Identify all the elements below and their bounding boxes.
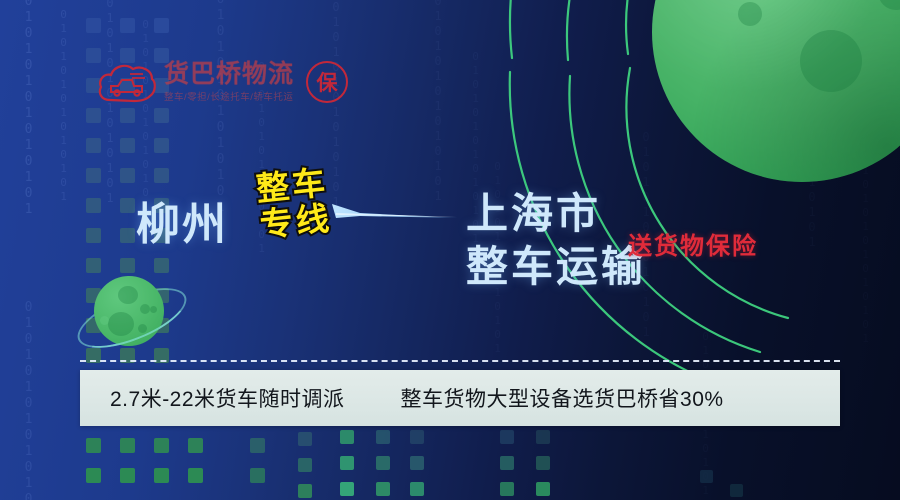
- bottom-dashed-divider: [80, 360, 840, 362]
- route-arrow-beam: [330, 196, 470, 230]
- logo-subtitle: 整车/零担/长途托车/轿车托运: [164, 89, 294, 103]
- origin-city-label: 柳州: [136, 188, 228, 252]
- destination-block: 上海市 整车运输: [466, 188, 646, 293]
- brand-logo[interactable]: 货巴桥物流 整车/零担/长途托车/轿车托运 保: [96, 60, 348, 104]
- insurance-seal-badge: 保: [306, 61, 348, 103]
- planet-crater: [800, 30, 862, 92]
- bottom-info-bar: 2.7米-22米货车随时调派 整车货物大型设备选货巴桥省30%: [80, 370, 840, 426]
- destination-city: 上海市: [466, 188, 646, 241]
- insurance-note: 送货物保险: [628, 226, 758, 261]
- route-type-badge: 整车 专线: [254, 164, 333, 242]
- bottom-bar-left-text: 2.7米-22米货车随时调派: [110, 383, 345, 413]
- ringed-planet-small: [78, 272, 182, 358]
- logo-title: 货巴桥物流: [164, 61, 294, 87]
- logo-text: 货巴桥物流 整车/零担/长途托车/轿车托运: [164, 61, 294, 103]
- planet-crater: [738, 2, 762, 26]
- route-badge-line-2: 专线: [258, 200, 333, 243]
- cloud-truck-icon: [96, 60, 158, 104]
- destination-service: 整车运输: [466, 241, 646, 294]
- poster-canvas: 01010101010101 01010101010101 0101010101…: [0, 0, 900, 500]
- bottom-bar-right-text: 整车货物大型设备选货巴桥省30%: [401, 383, 724, 413]
